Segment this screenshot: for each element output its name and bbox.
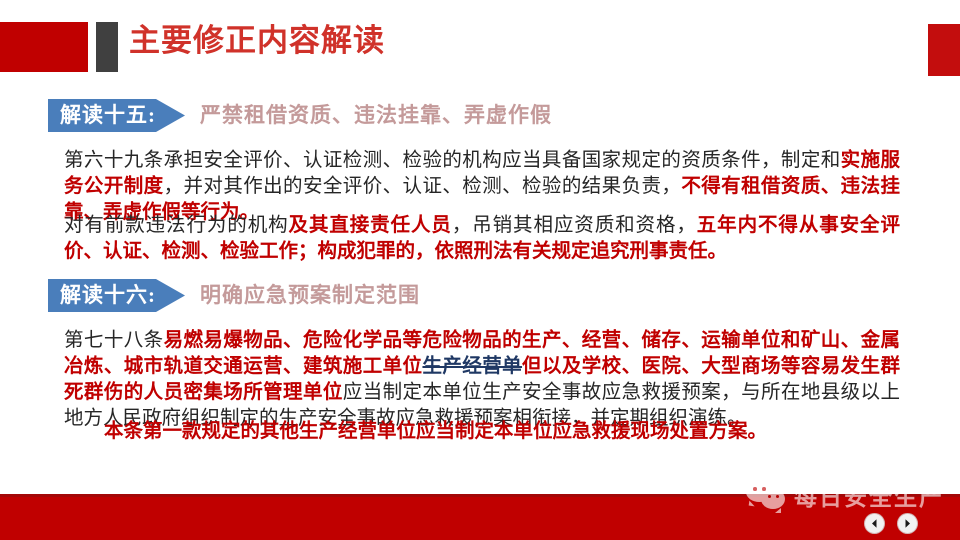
- slide-canvas: 主要修正内容解读 解读十五: 严禁租借资质、违法挂靠、弄虚作假 第六十九条承担安…: [0, 0, 960, 540]
- header-gray-accent-block: [96, 22, 118, 72]
- p15-2-text-c: ，吊销其相应资质和资格，: [452, 215, 697, 236]
- watermark: 每日安全生产: [746, 478, 944, 512]
- p15-2-text-a: 对有前款违法行为的机构: [64, 215, 289, 236]
- p15-2-highlight-1: 及其直接责任人员: [289, 215, 452, 236]
- header-red-accent-block: [0, 22, 88, 72]
- arrow-right-icon: [902, 518, 913, 529]
- p15-1-text-c: ，并对其作出的安全评价、认证、检测、检验的结果负责，: [164, 176, 682, 197]
- watermark-text: 每日安全生产: [794, 478, 944, 512]
- page-title: 主要修正内容解读: [129, 21, 385, 61]
- p16-1-text-a: 第七十八条: [64, 330, 164, 351]
- section-title-15: 严禁租借资质、违法挂靠、弄虚作假: [200, 99, 552, 132]
- next-slide-button[interactable]: [897, 513, 918, 534]
- section-title-16: 明确应急预案制定范围: [200, 279, 420, 312]
- prev-slide-button[interactable]: [864, 513, 885, 534]
- paragraph-16-1: 第七十八条易燃易爆物品、危险化学品等危险物品的生产、经营、储存、运输单位和矿山、…: [64, 328, 900, 432]
- paragraph-16-2: 本条第一款规定的其他生产经营单位应当制定本单位应急救援现场处置方案。: [64, 419, 900, 445]
- header-right-red-accent-block: [928, 24, 960, 76]
- p15-1-text-a: 第六十九条承担安全评价、认证检测、检验的机构应当具备国家规定的资质条件，制定和: [64, 150, 841, 171]
- arrow-left-icon: [869, 518, 880, 529]
- section-banner-15: 解读十五: 严禁租借资质、违法挂靠、弄虚作假: [48, 99, 648, 132]
- section-label-15: 解读十五:: [60, 99, 156, 132]
- section-label-16: 解读十六:: [60, 279, 156, 312]
- slide-nav-buttons: [864, 513, 918, 534]
- wechat-icon: [746, 480, 788, 510]
- p16-1-strikethrough-text: 生产经营单: [422, 356, 522, 377]
- p16-2-highlight: 本条第一款规定的其他生产经营单位应当制定本单位应急救援现场处置方案。: [104, 421, 767, 442]
- paragraph-15-2: 对有前款违法行为的机构及其直接责任人员，吊销其相应资质和资格，五年内不得从事安全…: [64, 213, 900, 265]
- section-banner-16: 解读十六: 明确应急预案制定范围: [48, 279, 648, 312]
